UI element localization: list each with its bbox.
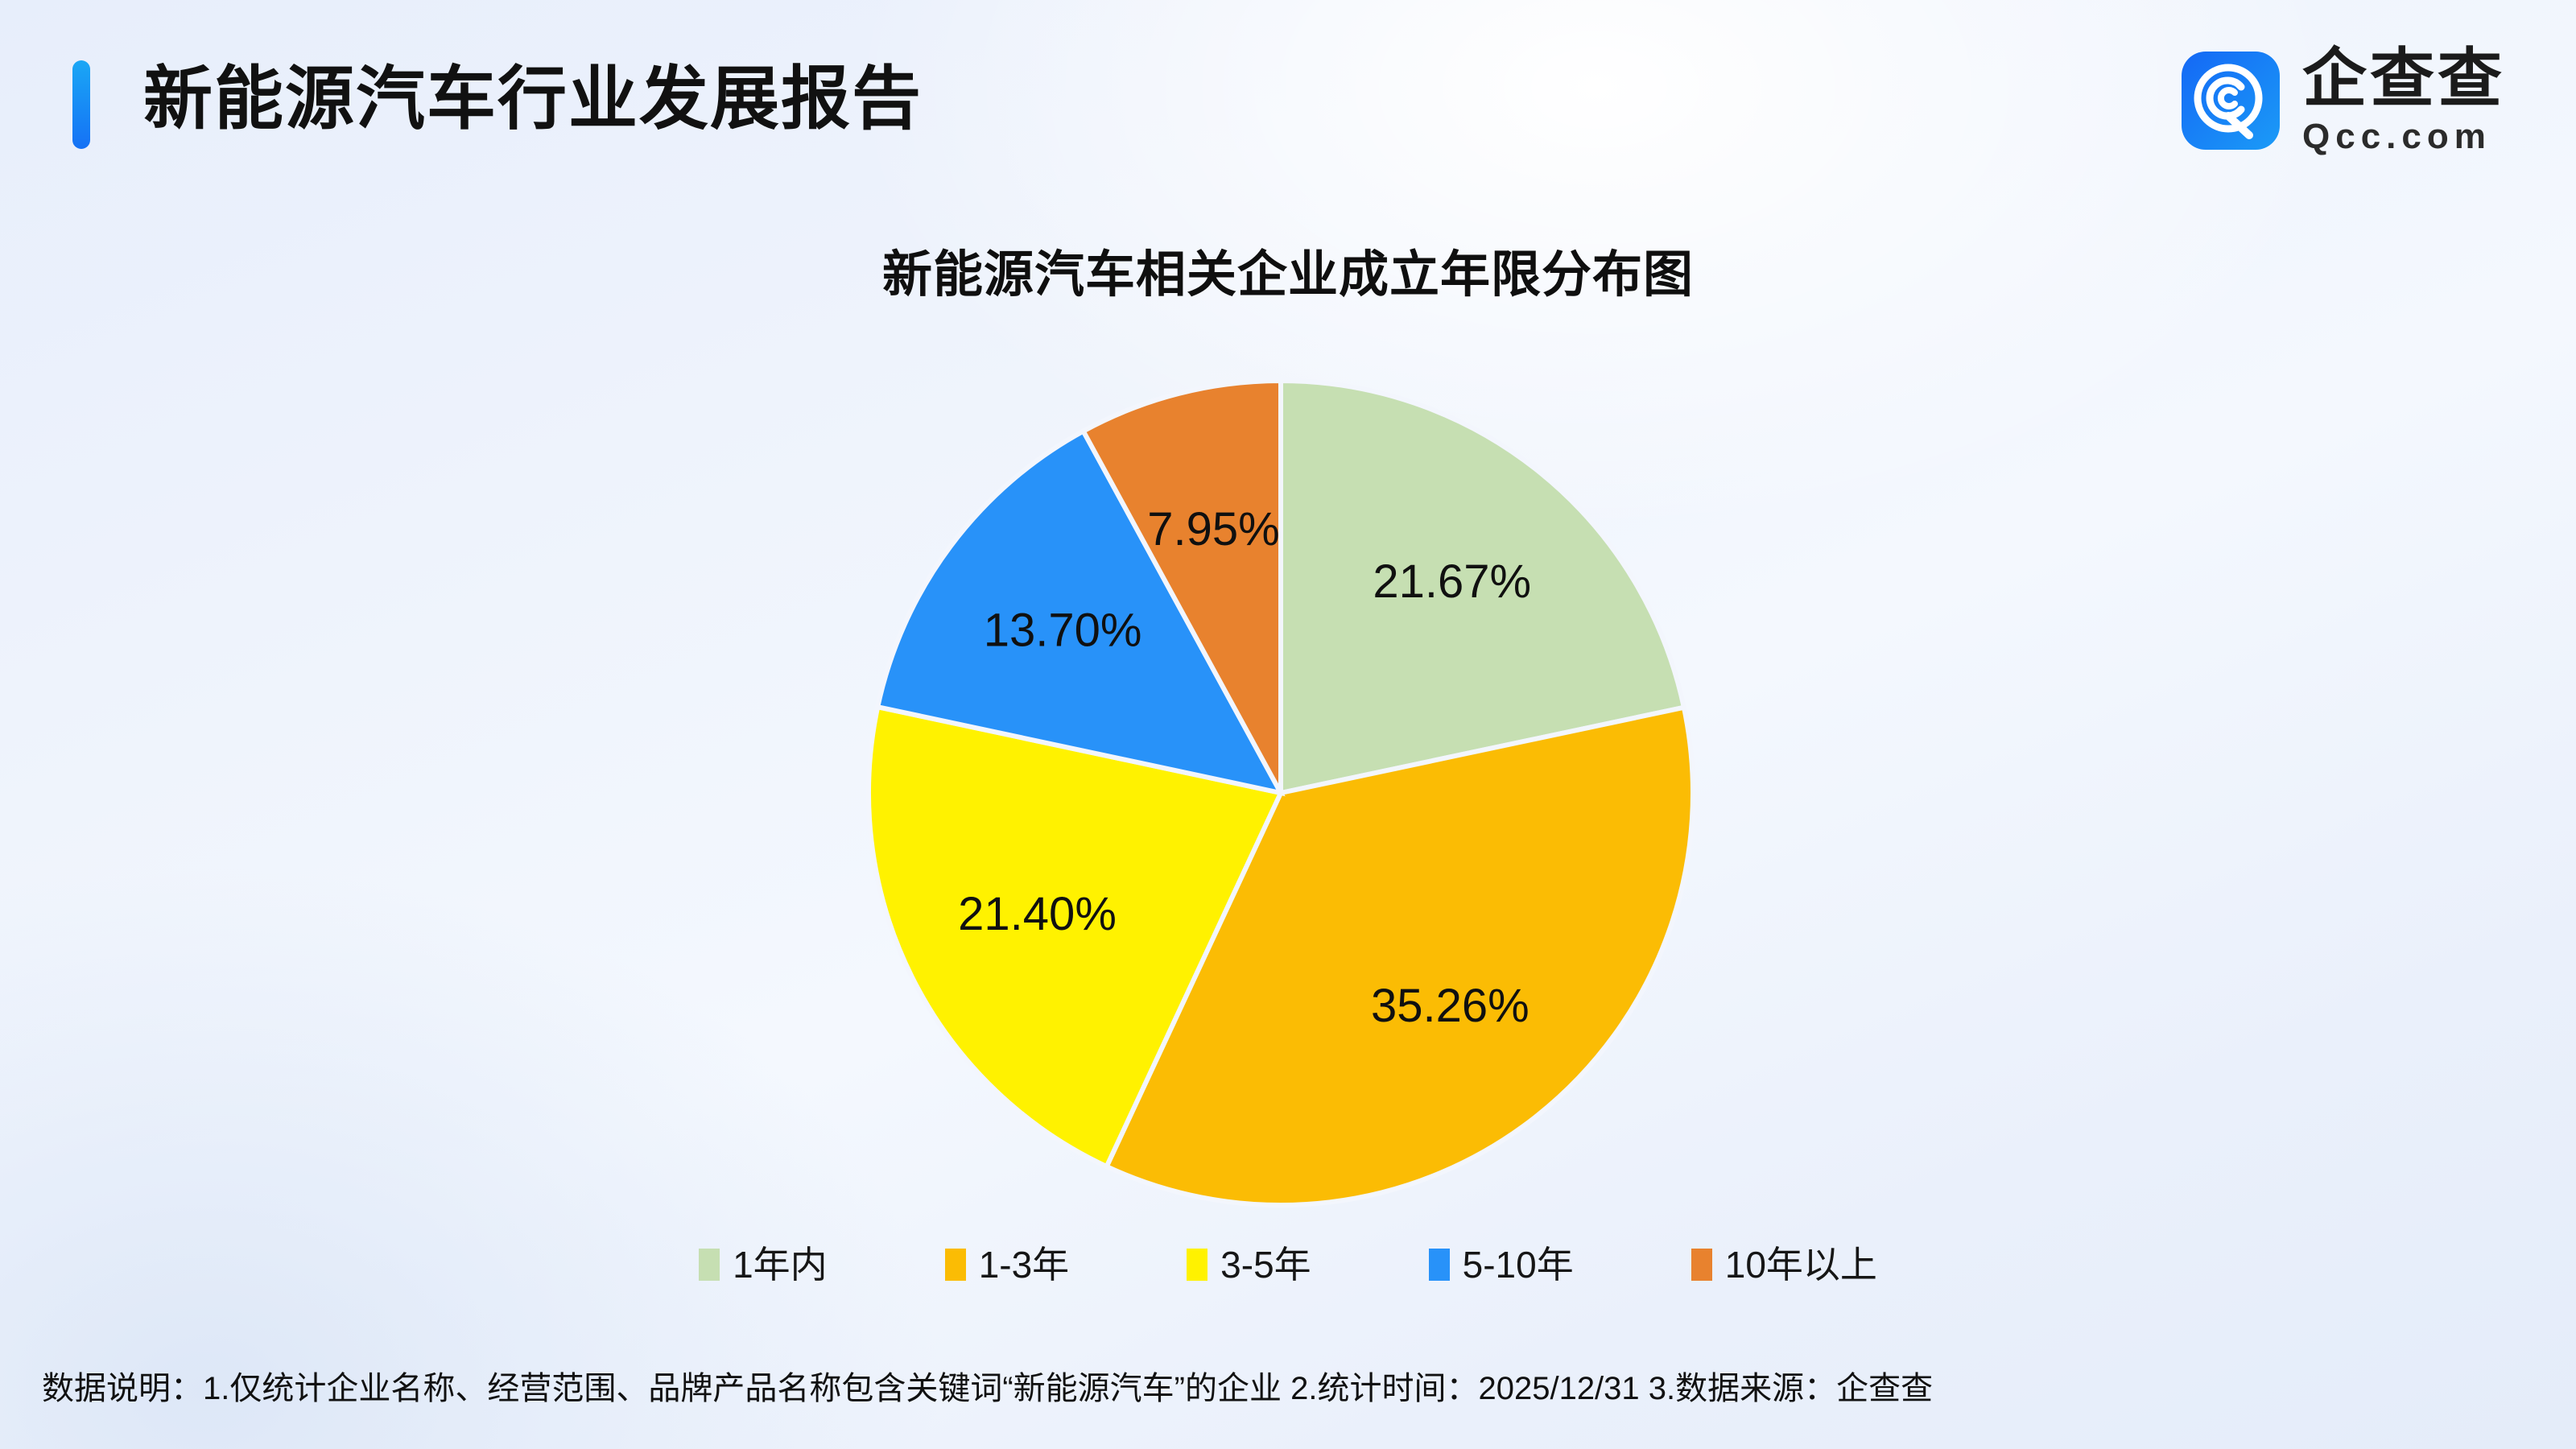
legend-swatch-icon: [1187, 1249, 1207, 1281]
brand-logo: 企查查 Qcc.com: [2182, 47, 2505, 155]
pie-slice-label: 35.26%: [1371, 980, 1529, 1032]
legend-item[interactable]: 5-10年: [1429, 1246, 1574, 1283]
legend-label: 1年内: [733, 1246, 828, 1283]
pie-slice-label: 21.67%: [1373, 555, 1531, 608]
report-page: 新能源汽车行业发展报告 企查查 Qcc.com 新能源汽车相关企业成立年限分布图…: [0, 0, 2576, 1449]
legend-item[interactable]: 10年以上: [1691, 1246, 1877, 1283]
legend-swatch-icon: [1691, 1249, 1712, 1281]
pie-slice-label: 7.95%: [1147, 503, 1279, 555]
chart-legend: 1年内1-3年3-5年5-10年10年以上: [0, 1246, 2576, 1283]
legend-label: 3-5年: [1220, 1246, 1311, 1283]
pie-chart: 21.67%35.26%21.40%13.70%7.95%: [866, 378, 1695, 1207]
footer-note: 数据说明：1.仅统计企业名称、经营范围、品牌产品名称包含关键词“新能源汽车”的企…: [42, 1362, 2537, 1409]
header: 新能源汽车行业发展报告 企查查 Qcc.com: [0, 0, 2576, 201]
legend-swatch-icon: [699, 1249, 720, 1281]
brand-name-cn: 企查查: [2302, 47, 2505, 111]
legend-swatch-icon: [1429, 1249, 1450, 1281]
legend-item[interactable]: 1年内: [699, 1246, 828, 1283]
legend-label: 5-10年: [1463, 1246, 1574, 1283]
brand-text: 企查查 Qcc.com: [2302, 47, 2505, 155]
pie-slice-label: 21.40%: [958, 888, 1117, 940]
legend-swatch-icon: [945, 1249, 966, 1281]
qcc-logo-icon: [2182, 52, 2280, 150]
brand-name-en: Qcc.com: [2302, 119, 2505, 155]
legend-item[interactable]: 3-5年: [1187, 1246, 1311, 1283]
legend-label: 10年以上: [1725, 1246, 1877, 1283]
legend-item[interactable]: 1-3年: [945, 1246, 1069, 1283]
legend-label: 1-3年: [979, 1246, 1069, 1283]
chart-title: 新能源汽车相关企业成立年限分布图: [0, 233, 2576, 306]
page-title: 新能源汽车行业发展报告: [143, 47, 923, 151]
title-accent-bar: [72, 60, 90, 149]
pie-slice-label: 13.70%: [984, 605, 1142, 657]
